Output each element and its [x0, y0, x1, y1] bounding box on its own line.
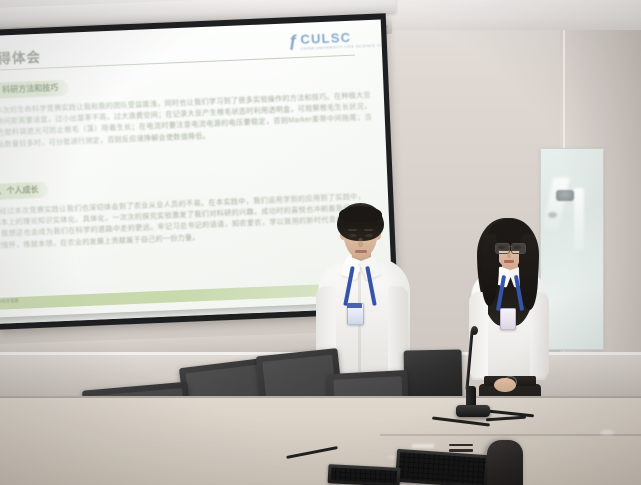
- logo-mark-icon: ƒ: [288, 32, 300, 50]
- male-eye-right: [365, 234, 373, 237]
- slide-paragraph-1: 本次的生命科学竞赛实践让我和我的团队受益匪浅，同时也让我们学习到了很多实验操作的…: [0, 90, 372, 151]
- slide-section-heading-2: 二、个人成长: [0, 182, 49, 201]
- slide-footer-note: 生命科学竞赛: [0, 298, 19, 305]
- female-mouth: [504, 260, 514, 263]
- classroom-photo: AUTO PWR 心得体会 ƒ CULSC CHINA UNIVERSITY L…: [0, 0, 641, 485]
- keyboard[interactable]: [328, 464, 401, 485]
- male-eye-left: [349, 234, 357, 237]
- female-eye-left: [498, 246, 505, 249]
- male-eyebrow-right: [364, 229, 373, 231]
- female-clasped-hands: [494, 378, 516, 392]
- slide-paragraph-2-text: 经过本次竞赛实践让我们也深切体会到了农业从业人员的不易。在本实践中，我们运用学到…: [0, 192, 366, 249]
- female-id-badge: [500, 308, 516, 330]
- whiteboard-smudge: [548, 212, 557, 218]
- male-nose: [358, 238, 363, 247]
- male-id-badge-header: [347, 303, 362, 308]
- male-mouth: [355, 250, 367, 253]
- whiteboard-reflection-lamp: [556, 190, 574, 201]
- female-nose: [507, 250, 511, 258]
- microphone-base[interactable]: [456, 405, 490, 417]
- male-eyebrow-left: [348, 229, 357, 231]
- slide-paragraph-1-text: 本次的生命科学竞赛实践让我和我的团队受益匪浅，同时也让我们学习到了很多实验操作的…: [0, 91, 372, 149]
- organization-logo: ƒ CULSC CHINA UNIVERSITY LIFE SCIENCE CO…: [288, 26, 369, 57]
- female-eye-right: [514, 246, 521, 249]
- eyeglasses-bridge: [508, 246, 511, 247]
- microphone-capsule: [471, 326, 478, 335]
- chair-back: [487, 440, 523, 485]
- keyboard[interactable]: [395, 449, 489, 485]
- desk-highlight: [600, 430, 614, 435]
- desk-front-panel: [0, 398, 641, 485]
- monitor-back: [404, 349, 463, 402]
- slide-paragraph-2: 经过本次竞赛实践让我们也深切体会到了农业从业人员的不易。在本实践中，我们运用学到…: [0, 191, 367, 252]
- slide-section-heading-1: 一、科研方法和技巧: [0, 80, 69, 100]
- male-hair-fringe: [339, 206, 382, 223]
- desk-highlight: [412, 444, 434, 448]
- whiteboard-reflection-strip: [574, 188, 584, 250]
- glass-whiteboard: [540, 148, 604, 350]
